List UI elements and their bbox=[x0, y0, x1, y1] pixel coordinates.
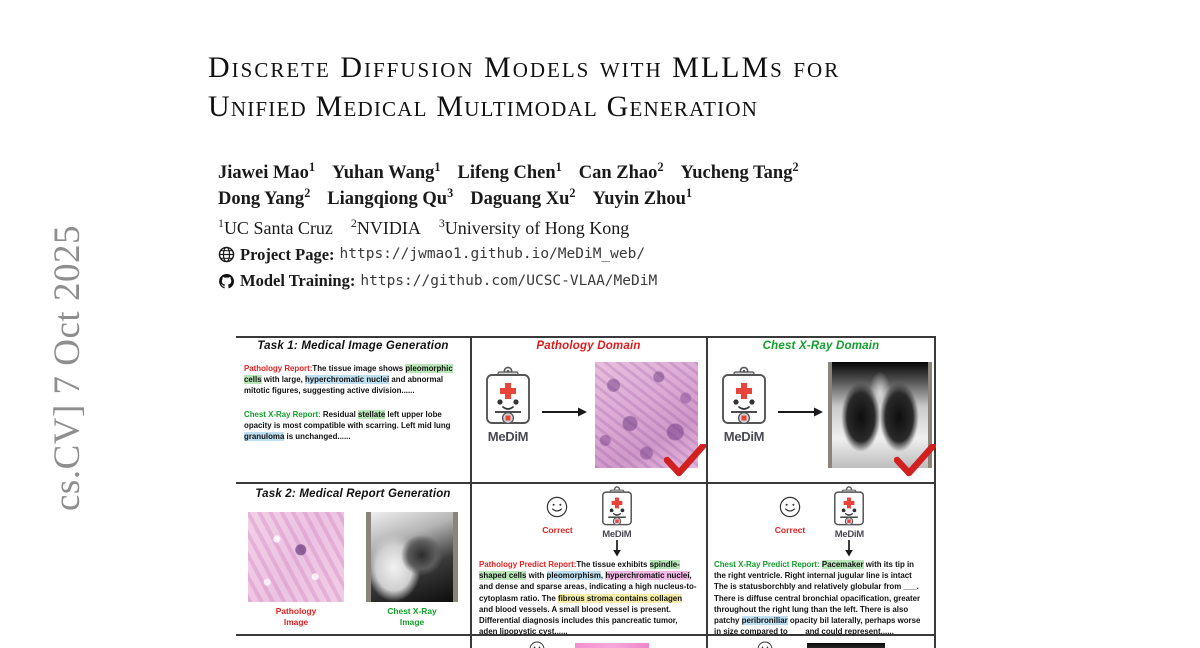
report-highlight: Pacemaker bbox=[822, 560, 864, 569]
medim-clipboard-icon bbox=[482, 366, 534, 428]
report-text: is unchanged...... bbox=[284, 432, 350, 441]
arrow-down-cxr bbox=[844, 540, 854, 557]
input-pathology-caption-l2: Image bbox=[248, 617, 344, 628]
report-highlight: hyperchromatic nuclei bbox=[305, 375, 389, 384]
arxiv-stamp: cs.CV] 7 Oct 2025 bbox=[39, 181, 95, 511]
input-pathology-caption-l1: Pathology bbox=[248, 606, 344, 617]
task2-pathology-predict-label: Pathology Predict Report: bbox=[479, 560, 576, 569]
paper-title: Discrete Diffusion Models with MLLMs for… bbox=[208, 48, 1008, 126]
author-name: Can Zhao2 bbox=[579, 163, 664, 183]
medim-label-task2-pathology: MeDiM bbox=[602, 529, 631, 540]
task3-xray-strip bbox=[807, 643, 885, 648]
model-training-label: Model Training bbox=[240, 268, 350, 294]
correct-label-pathology: Correct bbox=[542, 525, 573, 535]
author-name: Daguang Xu2 bbox=[470, 189, 575, 209]
figure-right-border bbox=[934, 336, 936, 648]
task2-cxr-input: Chest X-Ray Image bbox=[366, 512, 458, 628]
affiliation-mark: 2 bbox=[351, 216, 357, 230]
paper-page: cs.CV] 7 Oct 2025 Discrete Diffusion Mod… bbox=[0, 0, 1200, 648]
affiliation-row: 1UC Santa Cruz2NVIDIA3University of Hong… bbox=[218, 215, 978, 241]
author-row-2: Dong Yang2Liangqiong Qu3Daguang Xu2Yuyin… bbox=[218, 186, 978, 212]
pathology-domain-cell: Pathology Domain MeDiM bbox=[472, 340, 705, 482]
report-text: with large, bbox=[262, 375, 305, 384]
model-training-sep: : bbox=[350, 268, 356, 294]
author-affiliation-mark: 2 bbox=[304, 186, 310, 200]
report-text: Residual bbox=[321, 410, 358, 419]
task1-text-cell: Task 1: Medical Image Generation Patholo… bbox=[236, 340, 470, 442]
author-name: Liangqiong Qu3 bbox=[327, 189, 453, 209]
task2-pathology-predict-body: The tissue exhibits spindle-shaped cells… bbox=[479, 560, 696, 636]
author-affiliation-mark: 2 bbox=[792, 160, 798, 174]
medim-clipboard-icon bbox=[599, 486, 635, 528]
title-line-1: Discrete Diffusion Models with MLLMs for bbox=[208, 48, 1008, 87]
author-name: Yuyin Zhou1 bbox=[593, 189, 693, 209]
task3-highlight-strip bbox=[575, 643, 649, 648]
task3-pathology-cell-partial bbox=[472, 638, 705, 648]
author-name: Jiawei Mao1 bbox=[218, 163, 315, 183]
arrow-right-pathology bbox=[542, 406, 588, 418]
author-name: Lifeng Chen1 bbox=[458, 163, 562, 183]
report-highlight: pleomorphism bbox=[547, 571, 601, 580]
arrow-down-pathology bbox=[612, 540, 622, 557]
author-row-1: Jiawei Mao1Yuhan Wang1Lifeng Chen1Can Zh… bbox=[218, 160, 978, 186]
task2-cxr-predict-label: Chest X-Ray Predict Report: bbox=[714, 560, 820, 569]
arxiv-stamp-text: cs.CV] 7 Oct 2025 bbox=[46, 225, 89, 511]
smiley-face-icon bbox=[529, 641, 545, 648]
project-page-url[interactable]: https://jwmao1.github.io/MeDiM_web/ bbox=[340, 243, 646, 265]
affiliation-mark: 1 bbox=[218, 216, 224, 230]
figure-top-border bbox=[236, 336, 936, 338]
input-pathology-caption: Pathology Image bbox=[248, 606, 344, 628]
task2-cxr-predict-body: Pacemaker with its tip in the right vent… bbox=[714, 560, 920, 636]
report-text: with bbox=[526, 571, 546, 580]
report-highlight: peribroniliar bbox=[742, 616, 788, 625]
task1-cxr-report-label: Chest X-Ray Report: bbox=[244, 410, 321, 419]
affiliation-item: 2NVIDIA bbox=[351, 218, 421, 238]
input-cxr-image bbox=[366, 512, 458, 602]
report-highlight: granuloma bbox=[244, 432, 284, 441]
author-affiliation-mark: 1 bbox=[309, 160, 315, 174]
model-training-url[interactable]: https://github.com/UCSC-VLAA/MeDiM bbox=[360, 270, 657, 292]
medim-model-cxr[interactable]: MeDiM bbox=[718, 366, 770, 444]
project-page-sep: : bbox=[329, 242, 335, 268]
affiliation-item: 1UC Santa Cruz bbox=[218, 218, 333, 238]
task2-title: Task 2: Medical Report Generation bbox=[236, 488, 470, 500]
medim-label-pathology: MeDiM bbox=[488, 429, 528, 444]
correct-indicator-pathology: Correct bbox=[542, 496, 573, 535]
task2-pathology-output-cell: Correct MeDiM bbox=[472, 486, 705, 638]
arrow-right-cxr bbox=[778, 406, 824, 418]
correct-indicator-cxr: Correct bbox=[775, 496, 806, 535]
correct-label-cxr: Correct bbox=[775, 525, 806, 535]
report-highlight: stellate bbox=[358, 410, 385, 419]
cxr-domain-title: Chest X-Ray Domain bbox=[708, 340, 934, 352]
medim-clipboard-icon bbox=[831, 486, 867, 528]
author-affiliation-mark: 2 bbox=[657, 160, 663, 174]
author-name: Yucheng Tang2 bbox=[681, 163, 799, 183]
input-pathology-image bbox=[248, 512, 344, 602]
generated-cxr-image bbox=[828, 362, 932, 468]
medim-model-pathology[interactable]: MeDiM bbox=[482, 366, 534, 444]
figure-row-divider-1 bbox=[236, 482, 936, 484]
smiley-face-icon bbox=[779, 496, 801, 518]
affiliation-mark: 3 bbox=[439, 216, 445, 230]
project-page-label: Project Page bbox=[240, 242, 329, 268]
medim-model-task2-cxr[interactable]: MeDiM bbox=[831, 486, 867, 557]
task1-title: Task 1: Medical Image Generation bbox=[236, 340, 470, 352]
medim-label-task2-cxr: MeDiM bbox=[835, 529, 864, 540]
report-highlight: fibrous stroma contains collagen bbox=[558, 594, 682, 603]
medim-model-task2-pathology[interactable]: MeDiM bbox=[599, 486, 635, 557]
task2-pathology-input: Pathology Image bbox=[248, 512, 344, 628]
task2-images-cell: Task 2: Medical Report Generation Pathol… bbox=[236, 488, 470, 628]
medim-clipboard-icon bbox=[718, 366, 770, 428]
input-cxr-caption-l1: Chest X-Ray bbox=[366, 606, 458, 617]
task2-pathology-predict-report: Pathology Predict Report:The tissue exhi… bbox=[479, 559, 698, 638]
title-line-2: Unified Medical Multimodal Generation bbox=[208, 87, 1008, 126]
task3-cxr-cell-partial bbox=[708, 638, 934, 648]
author-name: Yuhan Wang1 bbox=[332, 163, 440, 183]
author-affiliation-mark: 1 bbox=[556, 160, 562, 174]
affiliation-item: 3University of Hong Kong bbox=[439, 218, 629, 238]
author-affiliation-mark: 2 bbox=[569, 186, 575, 200]
pathology-domain-title: Pathology Domain bbox=[472, 340, 705, 352]
author-name: Dong Yang2 bbox=[218, 189, 310, 209]
author-affiliation-mark: 3 bbox=[447, 186, 453, 200]
model-training-link-row[interactable]: Model Training: https://github.com/UCSC-… bbox=[218, 268, 978, 294]
report-highlight: hyperchromatic nuclei bbox=[605, 571, 689, 580]
task1-cxr-report: Chest X-Ray Report: Residual stellate le… bbox=[244, 409, 462, 443]
project-page-link-row[interactable]: Project Page: https://jwmao1.github.io/M… bbox=[218, 242, 978, 268]
teaser-figure: Task 1: Medical Image Generation Patholo… bbox=[236, 336, 936, 648]
task2-cxr-output-cell: Correct MeDiM bbox=[708, 486, 934, 638]
cxr-domain-cell: Chest X-Ray Domain MeDiM bbox=[708, 340, 934, 482]
input-cxr-caption: Chest X-Ray Image bbox=[366, 606, 458, 628]
input-cxr-caption-l2: Image bbox=[366, 617, 458, 628]
author-affiliation-mark: 1 bbox=[434, 160, 440, 174]
task1-pathology-report-label: Pathology Report: bbox=[244, 364, 312, 373]
author-block: Jiawei Mao1Yuhan Wang1Lifeng Chen1Can Zh… bbox=[218, 160, 978, 294]
report-text: The tissue image shows bbox=[312, 364, 405, 373]
medim-label-cxr: MeDiM bbox=[724, 429, 764, 444]
task1-pathology-report: Pathology Report:The tissue image shows … bbox=[244, 363, 462, 397]
github-icon bbox=[218, 273, 235, 290]
smiley-face-icon bbox=[546, 496, 568, 518]
report-text: and blood vessels. A small blood vessel … bbox=[479, 605, 678, 636]
task2-cxr-predict-report: Chest X-Ray Predict Report: Pacemaker wi… bbox=[714, 559, 927, 638]
globe-icon bbox=[218, 246, 235, 263]
generated-pathology-image bbox=[595, 362, 698, 468]
author-affiliation-mark: 1 bbox=[686, 186, 692, 200]
report-text: The tissue exhibits bbox=[576, 560, 649, 569]
smiley-face-icon bbox=[757, 641, 773, 648]
